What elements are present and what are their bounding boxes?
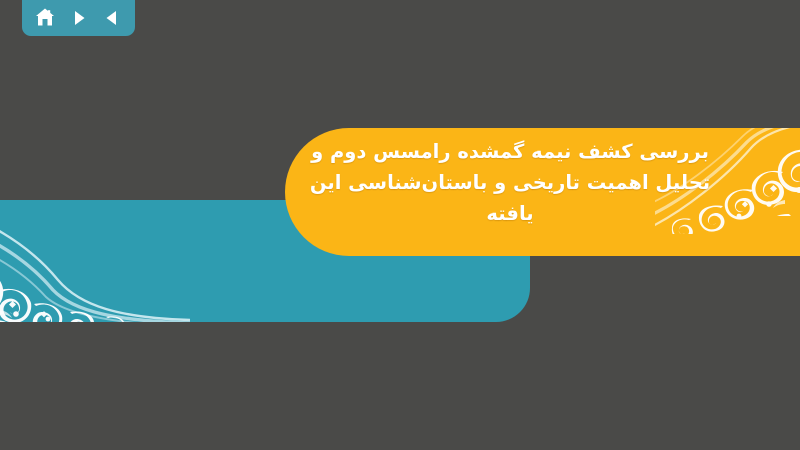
slide-title-line-3: یافته (300, 198, 720, 229)
triangle-right-icon (69, 8, 89, 28)
slide-title-line-1: بررسی کشف نیمه گمشده رامسس دوم و (300, 136, 720, 167)
navigation-bar (22, 0, 135, 36)
forward-button[interactable] (65, 4, 93, 32)
teal-arabesque-ornament-icon (0, 202, 190, 322)
home-icon (34, 7, 56, 29)
back-button[interactable] (98, 4, 126, 32)
slide-title-line-2: تحلیل اهمیت تاریخی و باستان‌شناسی این (300, 167, 720, 198)
slide-title: بررسی کشف نیمه گمشده رامسس دوم و تحلیل ا… (300, 136, 720, 229)
slide-canvas: بررسی کشف نیمه گمشده رامسس دوم و تحلیل ا… (0, 0, 800, 450)
triangle-left-icon (102, 8, 122, 28)
home-button[interactable] (31, 4, 59, 32)
